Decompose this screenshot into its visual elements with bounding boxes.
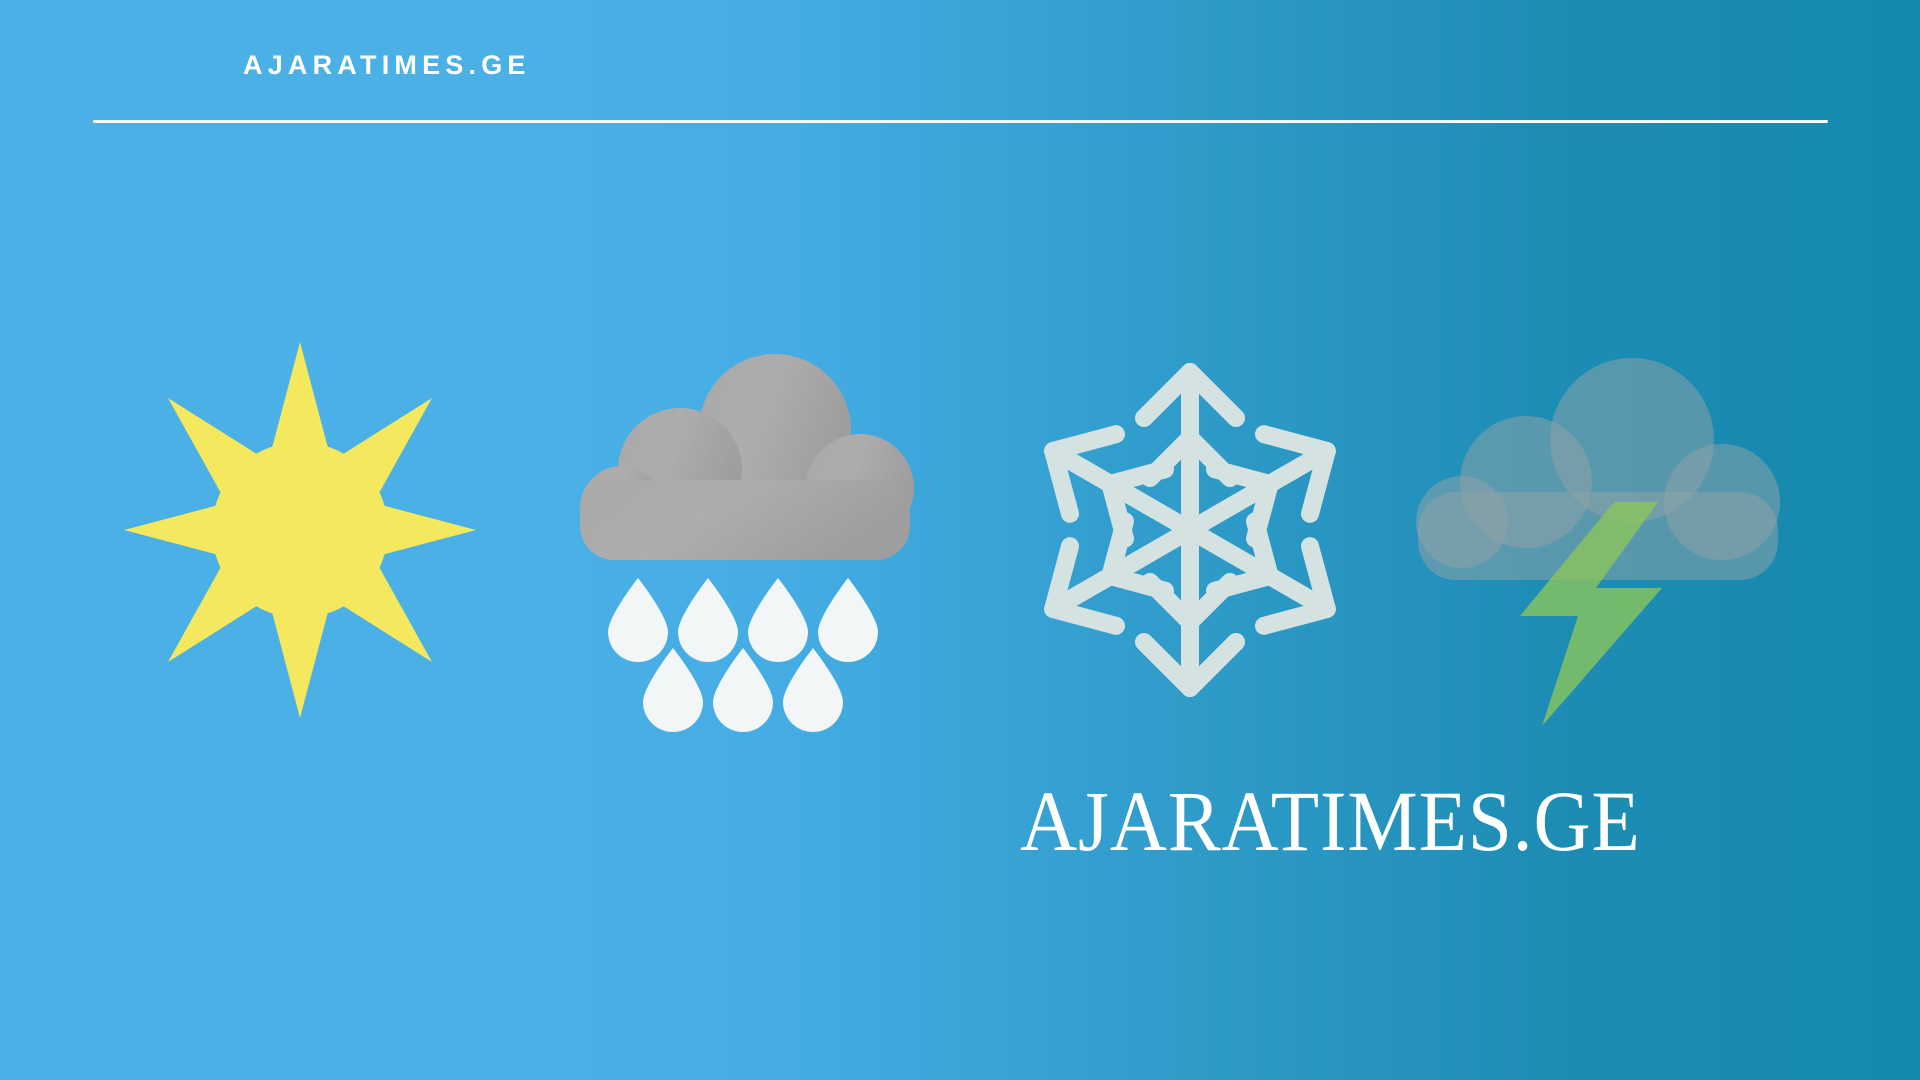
thunderstorm-cloud-icon — [1400, 330, 1800, 730]
sun-icon — [110, 330, 490, 730]
snowflake-icon — [1020, 330, 1360, 730]
header-divider — [93, 120, 1828, 123]
brand-header: AJARATIMES.GE — [0, 0, 1920, 140]
weather-icon-rainy — [560, 330, 940, 730]
watermark-text: AJARATIMES.GE — [1020, 778, 1641, 864]
weather-icon-sunny — [110, 330, 490, 730]
rain-drops-row-2 — [643, 648, 843, 732]
weather-icon-row — [0, 330, 1920, 730]
page-title: AJARATIMES.GE — [243, 52, 531, 79]
rain-cloud-icon — [560, 330, 940, 730]
weather-graphic-canvas: AJARATIMES.GE — [0, 0, 1920, 1080]
weather-icon-snowy — [1020, 330, 1360, 730]
cloud-shape — [580, 354, 914, 560]
weather-icon-stormy — [1400, 330, 1800, 730]
